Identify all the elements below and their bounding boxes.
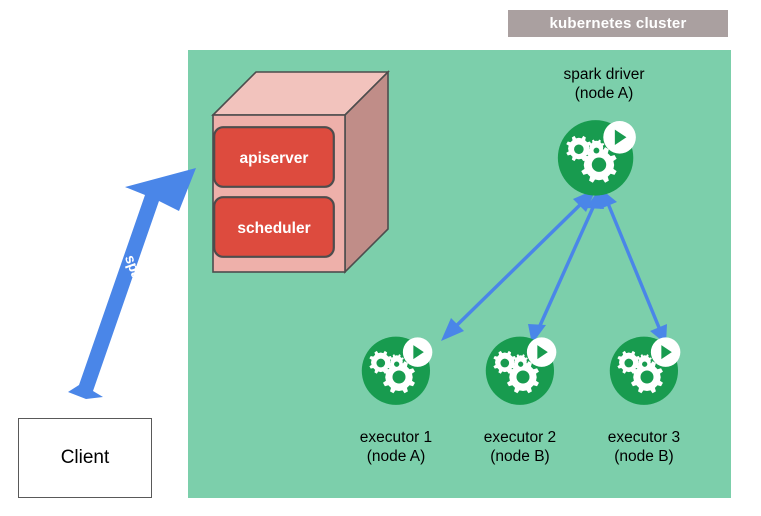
client-box[interactable]: Client xyxy=(18,418,152,498)
executor-2-label: executor 2 (node B) xyxy=(462,428,578,466)
spark-driver-label: spark driver (node A) xyxy=(524,65,684,103)
apiserver-box[interactable]: apiserver xyxy=(213,126,335,188)
executor-2-icon[interactable] xyxy=(484,332,562,408)
executor-1-node: (node A) xyxy=(338,447,454,466)
spark-driver-name: spark driver xyxy=(524,65,684,84)
executor-1-name: executor 1 xyxy=(338,428,454,447)
kubernetes-cluster-label: kubernetes cluster xyxy=(550,15,687,32)
kubernetes-cluster-banner: kubernetes cluster xyxy=(508,10,728,37)
apiserver-label: apiserver xyxy=(240,150,309,167)
executor-2-name: executor 2 xyxy=(462,428,578,447)
spark-driver-icon[interactable] xyxy=(556,115,642,199)
executor-2-play-badge xyxy=(527,337,556,366)
executor-3-name: executor 3 xyxy=(586,428,702,447)
executor-1-label: executor 1 (node A) xyxy=(338,428,454,466)
executor-1-play-badge xyxy=(403,337,432,366)
spark-driver-node: (node A) xyxy=(524,84,684,103)
scheduler-label: scheduler xyxy=(237,220,310,237)
executor-1-icon[interactable] xyxy=(360,332,438,408)
executor-2-node: (node B) xyxy=(462,447,578,466)
executor-3-label: executor 3 (node B) xyxy=(586,428,702,466)
client-label: Client xyxy=(61,447,110,469)
executor-3-play-badge xyxy=(651,337,680,366)
diagram-canvas: kubernetes cluster apiserver scheduler s… xyxy=(0,0,761,516)
scheduler-box[interactable]: scheduler xyxy=(213,196,335,258)
executor-3-node: (node B) xyxy=(586,447,702,466)
executor-3-icon[interactable] xyxy=(608,332,686,408)
spark-submit-arrow: spark-submit xyxy=(68,168,196,399)
spark-submit-label: spark-submit xyxy=(121,253,167,344)
driver-play-badge xyxy=(603,121,636,154)
spark-submit-arrow-shape xyxy=(68,168,196,399)
